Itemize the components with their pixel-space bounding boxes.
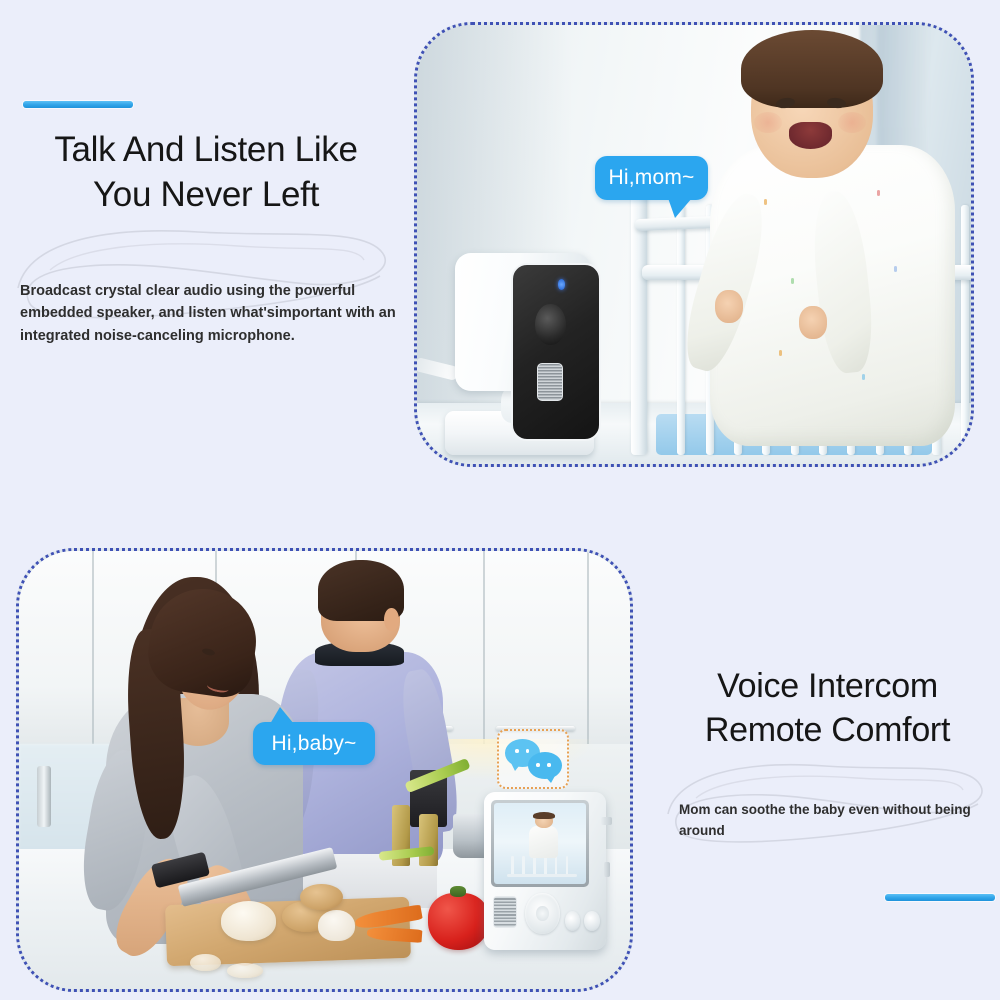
baby-hand-right — [799, 306, 827, 339]
man-ear — [384, 608, 399, 632]
onion-peel — [190, 954, 221, 972]
camera-speaker-grille — [537, 363, 563, 401]
red-bell-pepper — [428, 893, 489, 950]
accent-bar-bottom — [885, 894, 995, 901]
monitor-dpad[interactable] — [525, 893, 559, 934]
security-camera-device — [445, 253, 611, 455]
monitor-baby-hair — [533, 812, 555, 819]
monitor-screen-live-feed — [494, 803, 586, 884]
section-voice-intercom-text: Voice Intercom Remote Comfort Mom can so… — [655, 665, 1000, 842]
camera-status-led — [558, 279, 566, 289]
monitor-antenna — [601, 817, 612, 825]
headline-talk-and-listen: Talk And Listen Like You Never Left — [0, 128, 412, 218]
speech-bubble-hi-mom: Hi,mom~ — [595, 156, 708, 200]
section-talk-and-listen-text: Talk And Listen Like You Never Left Broa… — [0, 128, 412, 347]
crib-slat — [961, 205, 969, 455]
camera-lens — [535, 304, 566, 346]
baby-figure — [705, 34, 960, 447]
onion-halved — [221, 901, 276, 940]
body-talk-and-listen: Broadcast crystal clear audio using the … — [0, 280, 412, 347]
crib-slat — [677, 205, 685, 455]
baby-hand-left — [715, 290, 743, 323]
accent-bar-top — [23, 101, 133, 108]
monitor-side-button[interactable] — [604, 862, 610, 878]
body-voice-intercom: Mom can soothe the baby even without bei… — [655, 800, 1000, 842]
baby-hair — [741, 30, 884, 108]
onion-brown — [300, 884, 343, 910]
camera-front-panel — [511, 263, 601, 441]
baby-cheek — [838, 112, 866, 133]
monitor-crib-rail — [507, 874, 577, 877]
photo-nursery — [417, 25, 971, 464]
monitor-dpad-center — [536, 906, 548, 921]
monitor-baby-body — [529, 826, 558, 858]
onion-peel — [227, 963, 264, 978]
baby-cheek — [754, 112, 782, 133]
baby-monitor-device — [484, 792, 606, 950]
monitor-screen-bezel — [491, 800, 589, 887]
kitchen-faucet — [37, 766, 50, 827]
oil-bottle — [419, 814, 437, 867]
garlic-bulb — [318, 910, 355, 941]
monitor-button-power[interactable] — [584, 911, 600, 932]
wechat-icon-secondary — [528, 752, 562, 779]
photo-frame-nursery — [414, 22, 974, 467]
pepper-stem — [450, 886, 466, 897]
monitor-speaker-grille — [493, 896, 517, 928]
headline-voice-intercom: Voice Intercom Remote Comfort — [655, 665, 1000, 752]
product-feature-page: Talk And Listen Like You Never Left Broa… — [0, 0, 1000, 1000]
wechat-icon-badge — [497, 729, 569, 789]
speech-bubble-hi-baby: Hi,baby~ — [253, 722, 375, 765]
